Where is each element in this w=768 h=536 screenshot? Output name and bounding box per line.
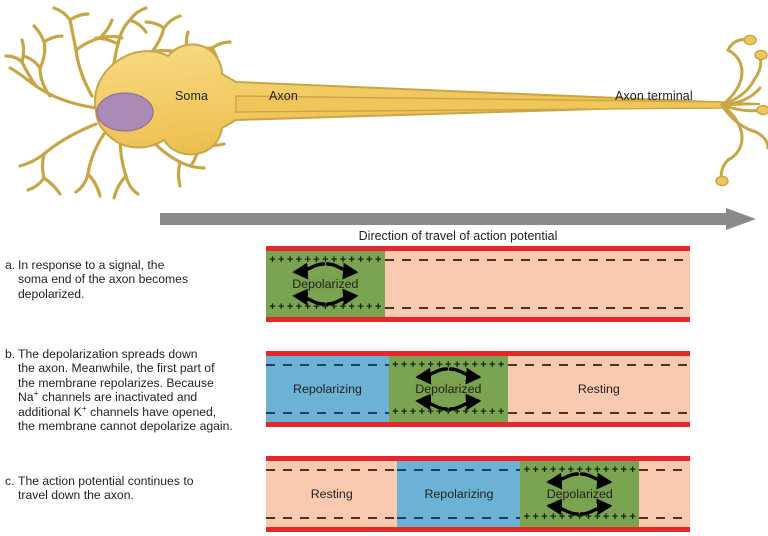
plus-charge-icon: + — [340, 255, 346, 266]
plus-charge-icon: + — [278, 302, 284, 313]
segment-label-depolarized: Depolarized — [292, 277, 358, 291]
plus-charge-icon: + — [612, 512, 618, 523]
plus-charge-icon: + — [629, 512, 635, 523]
plus-charge-icon: + — [524, 465, 530, 476]
negative-charge-dashed-row-top — [385, 259, 690, 261]
plus-charge-icon: + — [436, 360, 442, 371]
panel-c-marker: c. — [5, 474, 18, 488]
direction-of-travel-caption: Direction of travel of action potential — [160, 229, 756, 243]
plus-charge-icon: + — [392, 360, 398, 371]
plus-charge-icon: + — [541, 465, 547, 476]
plus-charge-icon: + — [269, 302, 275, 313]
plus-charge-icon: + — [419, 360, 425, 371]
panel-a-segments: ++++++++++++++++++++++++++Depolarized — [266, 251, 690, 317]
plus-charge-icon: + — [349, 302, 355, 313]
negative-charge-dashed-row-bottom — [266, 517, 397, 519]
neuron-label-axon-terminal: Axon terminal — [615, 89, 693, 103]
negative-charge-dashed-row-top — [508, 364, 690, 366]
membrane-segment-resting — [385, 251, 690, 317]
plus-charge-icon: + — [559, 465, 565, 476]
plus-charge-icon: + — [331, 255, 337, 266]
plus-charge-icon: + — [621, 465, 627, 476]
plus-charge-icon: + — [498, 360, 504, 371]
plus-charge-icon: + — [375, 255, 381, 266]
negative-charge-dashed-row-top — [639, 469, 690, 471]
segment-label-repolarizing: Repolarizing — [424, 487, 493, 501]
charge-row-bottom: +++++++++++++ — [389, 407, 508, 418]
membrane-segment-resting: Resting — [508, 356, 690, 422]
plus-charge-icon: + — [410, 360, 416, 371]
panel-a-membrane-diagram: ++++++++++++++++++++++++++Depolarized — [266, 246, 690, 322]
panel-c-membrane-diagram: RestingRepolarizing+++++++++++++++++++++… — [266, 456, 690, 532]
plus-charge-icon: + — [454, 360, 460, 371]
panel-a-caption: a. In response to a signal, thesoma end … — [5, 258, 263, 301]
plus-charge-icon: + — [427, 407, 433, 418]
plus-charge-icon: + — [401, 407, 407, 418]
plus-charge-icon: + — [296, 302, 302, 313]
plus-charge-icon: + — [603, 465, 609, 476]
arrow-right-icon — [160, 208, 756, 230]
plus-charge-icon: + — [463, 360, 469, 371]
plus-charge-icon: + — [524, 512, 530, 523]
membrane-band-bottom — [266, 527, 690, 532]
charge-row-top: +++++++++++++ — [266, 255, 385, 266]
plus-charge-icon: + — [392, 407, 398, 418]
plus-charge-icon: + — [541, 512, 547, 523]
panel-c-segments: RestingRepolarizing+++++++++++++++++++++… — [266, 461, 690, 527]
plus-charge-icon: + — [304, 255, 310, 266]
plus-charge-icon: + — [287, 302, 293, 313]
plus-charge-icon: + — [480, 407, 486, 418]
panel-b-membrane-diagram: Repolarizing++++++++++++++++++++++++++De… — [266, 351, 690, 427]
plus-charge-icon: + — [357, 255, 363, 266]
plus-charge-icon: + — [603, 512, 609, 523]
plus-charge-icon: + — [550, 512, 556, 523]
plus-charge-icon: + — [463, 407, 469, 418]
plus-charge-icon: + — [366, 302, 372, 313]
plus-charge-icon: + — [489, 407, 495, 418]
plus-charge-icon: + — [629, 465, 635, 476]
charge-row-bottom: +++++++++++++ — [520, 512, 639, 523]
plus-charge-icon: + — [401, 360, 407, 371]
plus-charge-icon: + — [436, 407, 442, 418]
plus-charge-icon: + — [454, 407, 460, 418]
negative-charge-dashed-row-top — [266, 364, 389, 366]
membrane-segment-depolarized: ++++++++++++++++++++++++++Depolarized — [520, 461, 639, 527]
plus-charge-icon: + — [322, 302, 328, 313]
panel-b-caption-text: The depolarization spreads downthe axon.… — [18, 347, 263, 433]
plus-charge-icon: + — [269, 255, 275, 266]
panel-b-marker: b. — [5, 347, 18, 361]
plus-charge-icon: + — [410, 407, 416, 418]
negative-charge-dashed-row-bottom — [639, 517, 690, 519]
negative-charge-dashed-row-bottom — [266, 412, 389, 414]
negative-charge-dashed-row-top — [266, 469, 397, 471]
plus-charge-icon: + — [340, 302, 346, 313]
plus-charge-icon: + — [445, 360, 451, 371]
segment-label-depolarized: Depolarized — [415, 382, 481, 396]
plus-charge-icon: + — [322, 255, 328, 266]
plus-charge-icon: + — [489, 360, 495, 371]
plus-charge-icon: + — [419, 407, 425, 418]
segment-label-depolarized: Depolarized — [547, 487, 613, 501]
membrane-band-bottom — [266, 317, 690, 322]
panel-b-segments: Repolarizing++++++++++++++++++++++++++De… — [266, 356, 690, 422]
plus-charge-icon: + — [349, 255, 355, 266]
negative-charge-dashed-row-top — [397, 469, 520, 471]
plus-charge-icon: + — [585, 512, 591, 523]
segment-label-resting: Resting — [311, 487, 353, 501]
plus-charge-icon: + — [576, 465, 582, 476]
segment-label-resting: Resting — [578, 382, 620, 396]
segment-label-repolarizing: Repolarizing — [293, 382, 362, 396]
plus-charge-icon: + — [532, 512, 538, 523]
negative-charge-dashed-row-bottom — [508, 412, 690, 414]
plus-charge-icon: + — [612, 465, 618, 476]
plus-charge-icon: + — [357, 302, 363, 313]
neuron-label-axon: Axon — [269, 89, 298, 103]
panel-a-caption-text: In response to a signal, thesoma end of … — [18, 258, 263, 301]
plus-charge-icon: + — [427, 360, 433, 371]
plus-charge-icon: + — [568, 512, 574, 523]
plus-charge-icon: + — [313, 255, 319, 266]
plus-charge-icon: + — [576, 512, 582, 523]
panel-c-caption-text: The action potential continues totravel … — [18, 474, 263, 503]
plus-charge-icon: + — [498, 407, 504, 418]
neuron-illustration: Soma Axon Axon terminal — [0, 0, 768, 205]
plus-charge-icon: + — [480, 360, 486, 371]
plus-charge-icon: + — [594, 512, 600, 523]
membrane-segment-resting: Resting — [266, 461, 397, 527]
plus-charge-icon: + — [621, 512, 627, 523]
plus-charge-icon: + — [304, 302, 310, 313]
panel-b-caption: b. The depolarization spreads downthe ax… — [5, 347, 263, 433]
membrane-segment-resting — [639, 461, 690, 527]
plus-charge-icon: + — [445, 407, 451, 418]
neuron-label-soma: Soma — [175, 89, 208, 103]
plus-charge-icon: + — [594, 465, 600, 476]
plus-charge-icon: + — [313, 302, 319, 313]
plus-charge-icon: + — [278, 255, 284, 266]
membrane-segment-depolarized: ++++++++++++++++++++++++++Depolarized — [389, 356, 508, 422]
plus-charge-icon: + — [471, 360, 477, 371]
membrane-segment-repolarizing: Repolarizing — [397, 461, 520, 527]
membrane-segment-repolarizing: Repolarizing — [266, 356, 389, 422]
plus-charge-icon: + — [331, 302, 337, 313]
negative-charge-dashed-row-bottom — [397, 517, 520, 519]
plus-charge-icon: + — [296, 255, 302, 266]
plus-charge-icon: + — [471, 407, 477, 418]
plus-charge-icon: + — [532, 465, 538, 476]
panel-a-marker: a. — [5, 258, 18, 272]
charge-row-top: +++++++++++++ — [520, 465, 639, 476]
plus-charge-icon: + — [366, 255, 372, 266]
plus-charge-icon: + — [375, 302, 381, 313]
plus-charge-icon: + — [559, 512, 565, 523]
plus-charge-icon: + — [287, 255, 293, 266]
nucleus — [97, 93, 153, 131]
charge-row-bottom: +++++++++++++ — [266, 302, 385, 313]
membrane-band-bottom — [266, 422, 690, 427]
plus-charge-icon: + — [550, 465, 556, 476]
negative-charge-dashed-row-bottom — [385, 307, 690, 309]
plus-charge-icon: + — [585, 465, 591, 476]
direction-of-travel-arrow — [160, 208, 756, 230]
plus-charge-icon: + — [568, 465, 574, 476]
membrane-segment-depolarized: ++++++++++++++++++++++++++Depolarized — [266, 251, 385, 317]
panel-c-caption: c. The action potential continues totrav… — [5, 474, 263, 503]
charge-row-top: +++++++++++++ — [389, 360, 508, 371]
